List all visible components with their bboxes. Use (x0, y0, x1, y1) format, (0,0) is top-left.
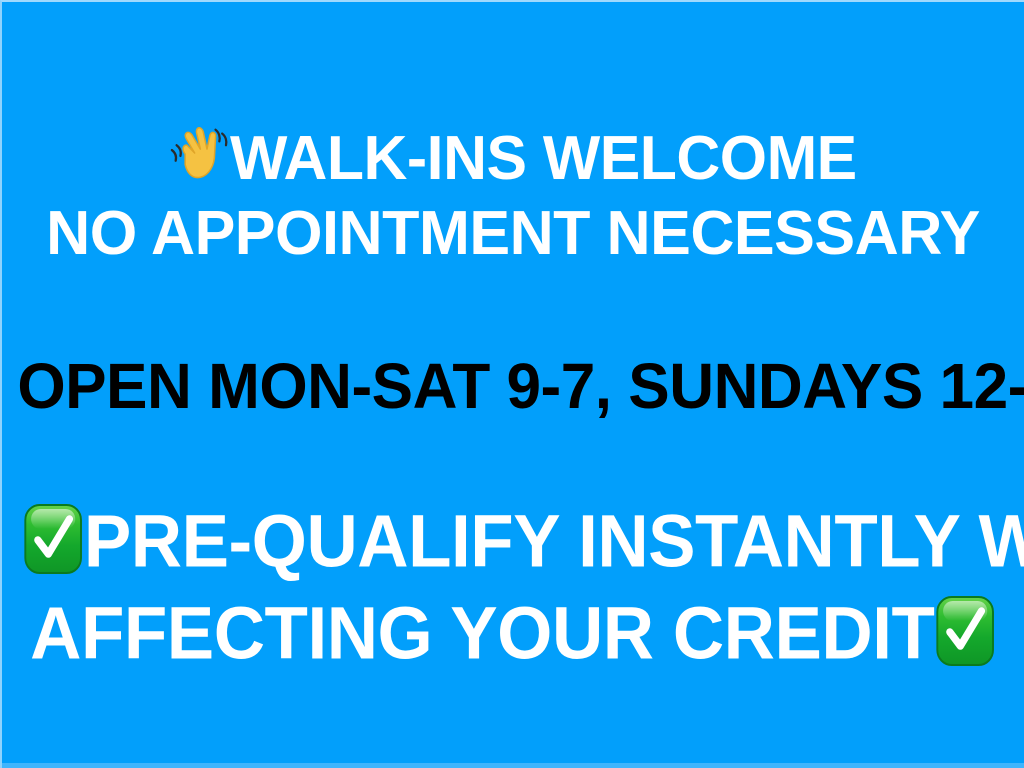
white-check-mark-icon-2 (934, 594, 995, 668)
white-check-mark-icon (22, 502, 83, 576)
headline-line-1: WALK-INS WELCOME (12, 122, 1014, 190)
waving-hand-icon (169, 122, 230, 184)
hours-line-text: OPEN MON-SAT 9-7, SUNDAYS 12-5 (17, 350, 1024, 422)
headline-line-1-text: WALK-INS WELCOME (230, 124, 857, 193)
promotional-sign: WALK-INS WELCOME NO APPOINTMENT NECESSAR… (0, 0, 1024, 768)
headline-line-2: NO APPOINTMENT NECESSARY (10, 203, 1017, 265)
prequalify-line-1: PRE-QUALIFY INSTANTLY WITHOUT (22, 502, 1003, 578)
prequalify-line-2: AFFECTING YOUR CREDIT (22, 594, 1003, 670)
hours-line: OPEN MON-SAT 9-7, SUNDAYS 12-5 (17, 354, 1008, 418)
prequalify-line-2-text: AFFECTING YOUR CREDIT (30, 591, 934, 674)
headline-line-2-text: NO APPOINTMENT NECESSARY (46, 199, 980, 268)
bottom-edge-strip (2, 763, 1024, 768)
prequalify-line-1-text: PRE-QUALIFY INSTANTLY WITHOUT (84, 499, 1024, 582)
